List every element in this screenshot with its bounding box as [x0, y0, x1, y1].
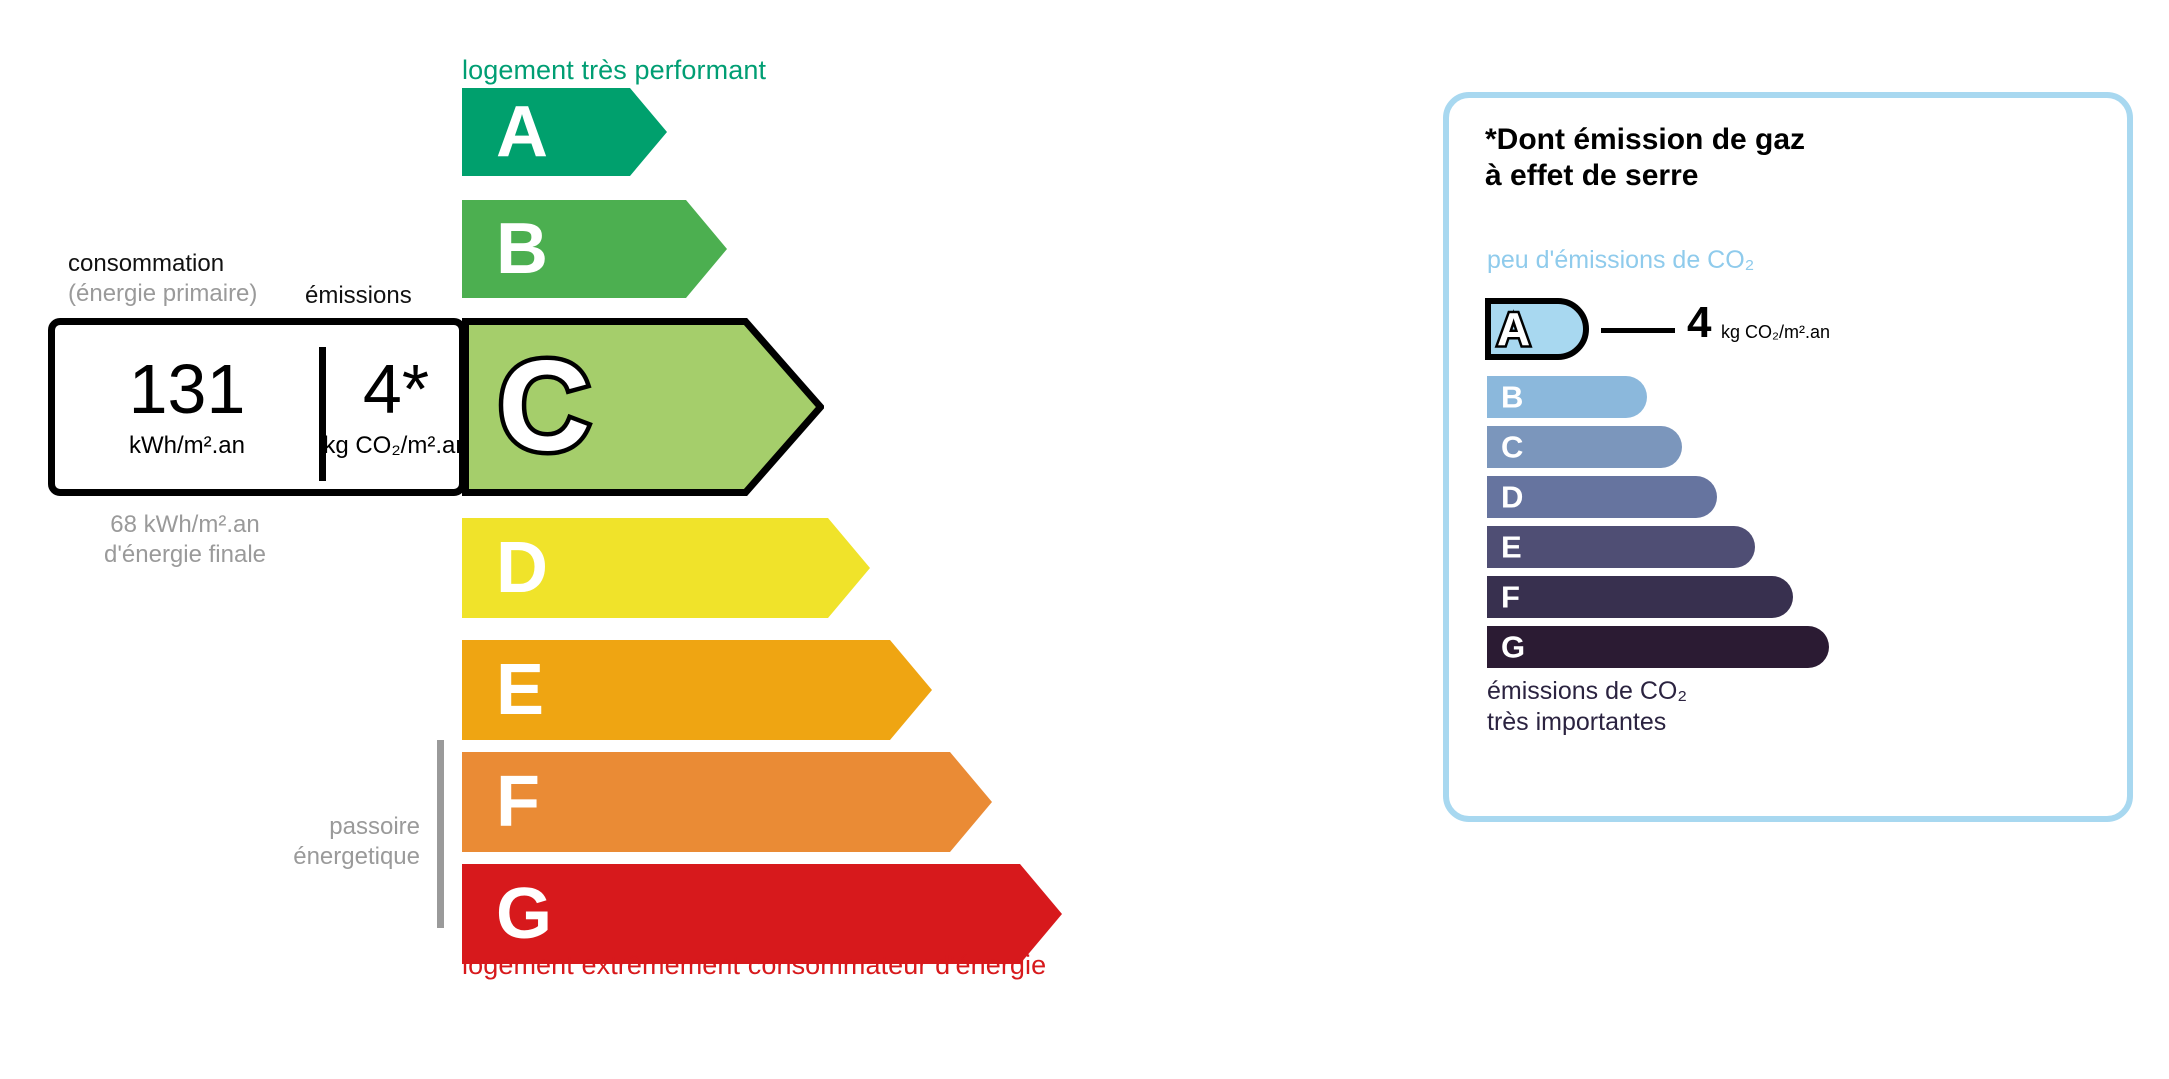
passoire-label: passoire énergetique	[200, 812, 420, 872]
co2-bar-shape: B	[1487, 376, 1647, 418]
co2-bar-shape: F	[1487, 576, 1793, 618]
energy-band-letter: G	[496, 878, 552, 950]
energy-band-shape	[462, 752, 992, 852]
co2-bar-shape: D	[1487, 476, 1717, 518]
energy-band-letter: B	[496, 213, 548, 285]
co2-bar-letter: G	[1501, 632, 1525, 663]
energy-band-f: F	[462, 752, 992, 852]
energy-band-letter: A	[496, 96, 548, 168]
consumption-header-sub: (énergie primaire)	[68, 280, 257, 308]
box-divider	[319, 347, 326, 481]
co2-bar-g: G	[1487, 626, 1829, 668]
co2-panel-title: *Dont émission de gaz à effet de serre	[1485, 122, 1805, 194]
energy-band-d: D	[462, 518, 870, 618]
final-energy-label: 68 kWh/m².an d'énergie finale	[70, 510, 300, 570]
energy-bottom-label: logement extrêmement consommateur d'éner…	[462, 950, 1046, 981]
energy-band-shape	[462, 88, 667, 176]
co2-bar-e: E	[1487, 526, 1755, 568]
co2-bar-c: C	[1487, 426, 1682, 468]
consumption-unit: kWh/m².an	[129, 432, 245, 460]
co2-bar-f: F	[1487, 576, 1793, 618]
co2-bar-shape: E	[1487, 526, 1755, 568]
co2-panel: *Dont émission de gaz à effet de serre p…	[1443, 92, 2133, 822]
emissions-header: émissions	[305, 282, 412, 310]
co2-bar-letter: D	[1501, 482, 1523, 513]
energy-band-g: G	[462, 864, 1062, 964]
emission-unit: kg CO₂/m².an	[323, 432, 468, 460]
energy-band-letter: C	[498, 343, 590, 471]
emission-cell: 4* kg CO₂/m².an	[326, 325, 466, 489]
energy-band-a: A	[462, 88, 667, 176]
energy-top-label: logement très performant	[462, 55, 766, 86]
energy-band-c: C	[462, 318, 824, 496]
energy-band-b: B	[462, 200, 727, 298]
co2-bottom-label: émissions de CO₂ très importantes	[1487, 676, 1687, 739]
co2-bar-letter: C	[1501, 432, 1523, 463]
co2-bar-a-letter: A	[1497, 306, 1530, 352]
energy-band-letter: D	[496, 532, 548, 604]
energy-band-letter: F	[496, 766, 540, 838]
consumption-cell: 131 kWh/m².an	[55, 325, 319, 489]
co2-value: 4	[1687, 301, 1711, 345]
co2-bar-letter: E	[1501, 532, 1522, 563]
co2-bar-shape: G	[1487, 626, 1829, 668]
consumption-box: 131 kWh/m².an 4* kg CO₂/m².an	[48, 318, 466, 496]
co2-value-unit: kg CO₂/m².an	[1721, 322, 1830, 343]
passoire-bracket	[437, 740, 444, 928]
co2-bar-letter: B	[1501, 382, 1523, 413]
consumption-value: 131	[129, 354, 246, 424]
energy-band-e: E	[462, 640, 932, 740]
co2-top-label: peu d'émissions de CO₂	[1487, 246, 1754, 275]
co2-bar-a: A	[1485, 298, 1589, 360]
co2-bar-shape: C	[1487, 426, 1682, 468]
energy-performance-diagram: logement très performant ABCDEFG passoir…	[0, 0, 1400, 1079]
co2-bar-b: B	[1487, 376, 1647, 418]
energy-band-letter: E	[496, 654, 544, 726]
consumption-header: consommation (énergie primaire)	[68, 250, 257, 308]
co2-bar-d: D	[1487, 476, 1717, 518]
emission-value: 4*	[363, 354, 429, 424]
co2-leader-line	[1601, 328, 1675, 333]
co2-bar-letter: F	[1501, 582, 1520, 613]
consumption-header-main: consommation	[68, 250, 224, 277]
